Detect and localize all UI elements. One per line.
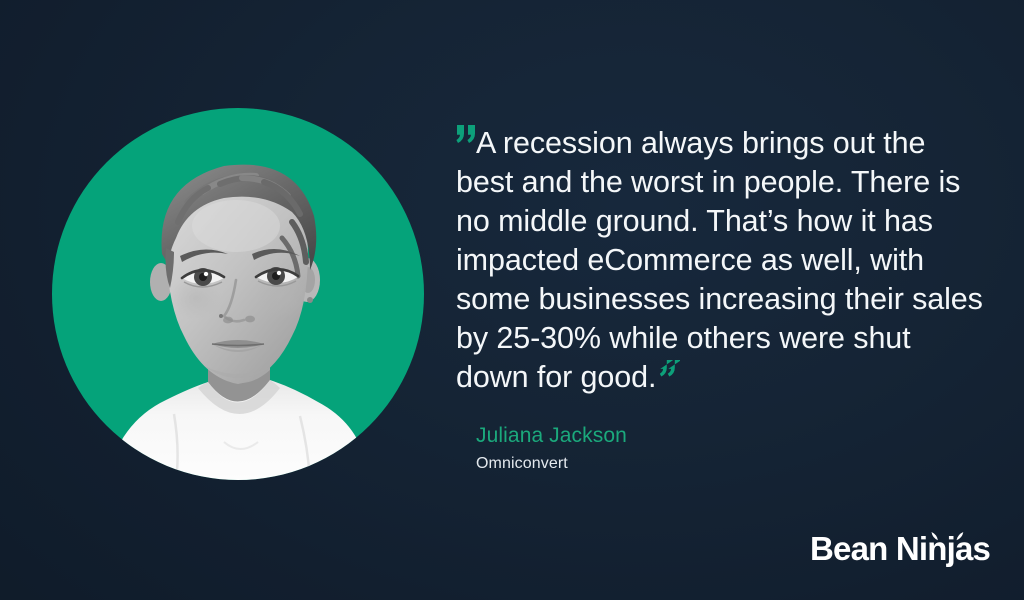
svg-text:Bean Ninjas: Bean Ninjas	[810, 530, 990, 567]
attribution-block: Juliana Jackson Omniconvert	[476, 422, 627, 476]
author-name: Juliana Jackson	[476, 422, 627, 450]
opening-quote-mark	[456, 124, 478, 144]
portrait-block	[52, 108, 424, 480]
closing-quote-mark	[660, 359, 680, 377]
quote-text: A recession always brings out the best a…	[456, 126, 983, 394]
author-company: Omniconvert	[476, 452, 627, 476]
quote-card: A recession always brings out the best a…	[0, 0, 1024, 600]
bean-ninjas-logo: Bean Ninjas Bean Ninjas	[810, 528, 1000, 570]
quote-block: A recession always brings out the best a…	[456, 124, 986, 397]
portrait-circle-background	[52, 108, 424, 480]
portrait-photo	[104, 130, 372, 480]
